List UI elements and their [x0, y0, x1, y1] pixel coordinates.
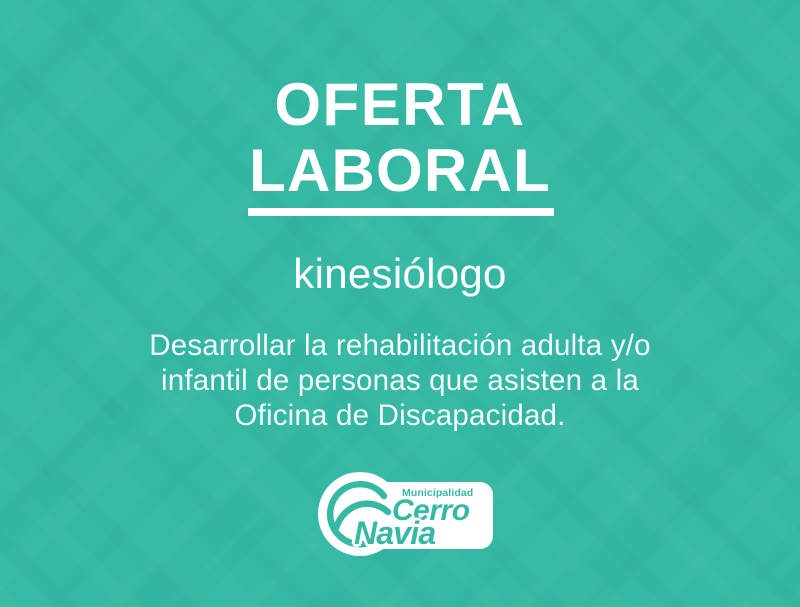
logo-name-navia: Navia [354, 516, 435, 550]
heading-divider-rule [248, 208, 554, 216]
job-description-line-3: Oficina de Discapacidad. [60, 398, 740, 433]
job-description-line-2: infantil de personas que asisten a la [60, 363, 740, 398]
job-title: kinesiólogo [0, 250, 800, 298]
job-offer-poster: OFERTA LABORAL kinesiólogo Desarrollar l… [0, 0, 800, 607]
logo-wordmark: Municipalidad Cerro Navia [369, 482, 493, 549]
municipality-logo: Municipalidad Cerro Navia [318, 472, 493, 564]
job-description-line-1: Desarrollar la rehabilitación adulta y/o [60, 328, 740, 363]
job-description: Desarrollar la rehabilitación adulta y/o… [60, 328, 740, 433]
poster-heading-line-2: LABORAL [0, 140, 800, 202]
poster-content: OFERTA LABORAL kinesiólogo Desarrollar l… [0, 0, 800, 607]
poster-heading-line-1: OFERTA [0, 74, 800, 136]
